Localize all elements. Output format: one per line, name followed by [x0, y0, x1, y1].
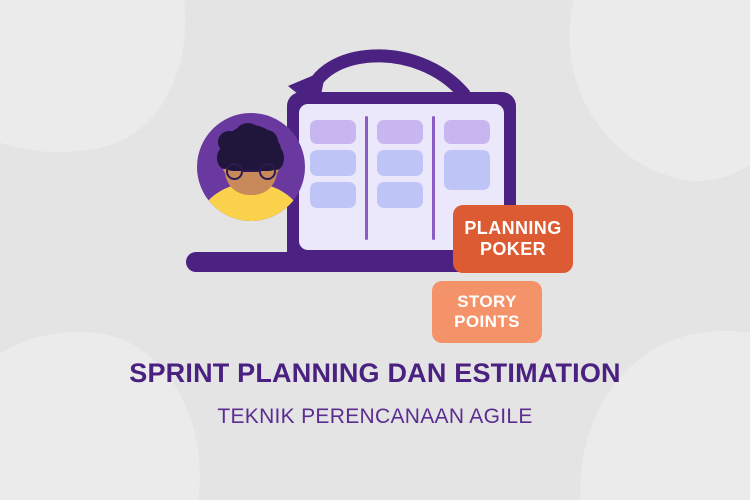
board-card — [310, 120, 356, 144]
board-card — [310, 150, 356, 176]
board-column-divider — [365, 116, 368, 240]
badge-planning-poker-line1: PLANNING — [464, 218, 561, 239]
slide-canvas: PLANNING POKER STORY POINTS SPRINT PLANN… — [0, 0, 750, 500]
board-card — [444, 120, 490, 144]
board-card — [310, 182, 356, 208]
badge-planning-poker-line2: POKER — [480, 239, 546, 260]
person-avatar-icon — [197, 113, 305, 221]
page-title: SPRINT PLANNING DAN ESTIMATION — [0, 358, 750, 389]
page-subtitle: TEKNIK PERENCANAAN AGILE — [0, 405, 750, 429]
text-block: SPRINT PLANNING DAN ESTIMATION TEKNIK PE… — [0, 358, 750, 429]
glasses-lens-left — [226, 163, 243, 180]
badge-planning-poker: PLANNING POKER — [453, 205, 573, 273]
badge-story-points-line1: STORY — [457, 292, 517, 312]
board-card — [444, 150, 490, 190]
board-card — [377, 150, 423, 176]
avatar-glasses-icon — [226, 163, 276, 180]
badge-story-points: STORY POINTS — [432, 281, 542, 343]
glasses-lens-right — [259, 163, 276, 180]
glasses-bridge — [243, 170, 259, 172]
board-column-divider — [432, 116, 435, 240]
board-card — [377, 120, 423, 144]
illustration-group: PLANNING POKER STORY POINTS — [0, 0, 750, 360]
badge-story-points-line2: POINTS — [454, 312, 520, 332]
board-card — [377, 182, 423, 208]
